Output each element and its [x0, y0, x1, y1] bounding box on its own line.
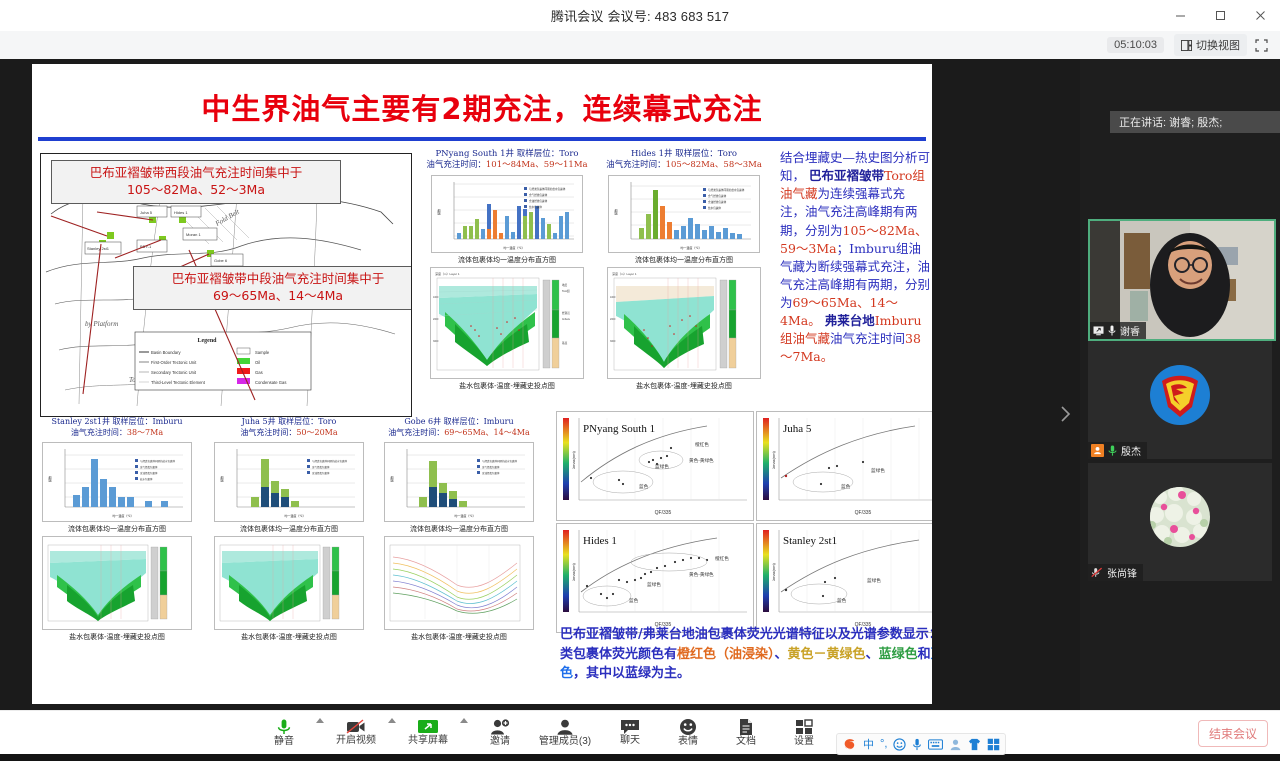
svg-text:Sample: Sample: [255, 350, 270, 355]
participant-tile-xierui[interactable]: 谢睿: [1088, 219, 1276, 341]
svg-text:Gas: Gas: [255, 370, 263, 375]
invite-button[interactable]: 邀请: [471, 711, 529, 754]
svg-text:by Platform: by Platform: [85, 320, 118, 328]
well-card-hides-1: Hides 1井 取样层位：Toro 油气充注时间：105～82Ma、58～3M…: [597, 149, 771, 391]
svg-text:λmax(nm): λmax(nm): [571, 562, 576, 580]
emoji-label: 表情: [678, 737, 698, 747]
histogram-caption-gobe: 流体包裹体均一温度分布直方图: [380, 524, 538, 534]
burial-caption-hides: 盐水包裹体-温度-埋藏史投点图: [597, 381, 771, 391]
svg-text:地层: 地层: [562, 283, 568, 287]
settings-label: 设置: [794, 737, 814, 747]
share-options-caret[interactable]: [457, 705, 471, 761]
participant-name-yinjie: 殷杰: [1121, 443, 1141, 458]
svg-text:烃源岩: 烃源岩: [562, 311, 570, 315]
histogram-stanley: 与烃类包裹体同期的盐水包裹体 含气烃类包裹体 含油烃类包裹体 盐水包裹体 均一温…: [42, 442, 192, 522]
shared-screen-stage[interactable]: 中生界油气主要有2期充注，连续幕式充注: [0, 59, 1080, 710]
svg-text:均一温度（℃）: 均一温度（℃）: [284, 513, 305, 518]
scatter-title-stanley: Stanley 2st1: [783, 535, 837, 547]
document-label: 文档: [736, 737, 756, 747]
host-icon: [1091, 444, 1104, 457]
start-video-button[interactable]: 开启视频: [327, 711, 385, 754]
svg-text:Gobe 6: Gobe 6: [214, 258, 228, 263]
histogram-caption-pnyang: 流体包裹体均一温度分布直方图: [420, 255, 594, 265]
camera-off-icon: [346, 719, 366, 735]
svg-text:与烃类包裹体同期的盐水包裹体: 与烃类包裹体同期的盐水包裹体: [708, 188, 745, 192]
svg-text:蓝绿色: 蓝绿色: [867, 577, 881, 584]
svg-text:λmax(nm): λmax(nm): [571, 450, 576, 468]
scatter-title-hides: Hides 1: [583, 535, 617, 547]
svg-text:3000: 3000: [610, 340, 616, 343]
svg-text:频数: 频数: [219, 476, 224, 482]
svg-text:2000: 2000: [610, 318, 616, 321]
svg-text:Stanley 2st1: Stanley 2st1: [87, 246, 110, 251]
svg-text:Hides 1: Hides 1: [174, 210, 188, 215]
svg-text:深度（m）Layer 1: 深度（m）Layer 1: [612, 271, 637, 276]
svg-text:黄色-黄绿色: 黄色-黄绿色: [689, 457, 714, 464]
apps-icon[interactable]: [987, 738, 1000, 751]
video-options-caret[interactable]: [385, 705, 399, 761]
svg-text:与烃类包裹体同期的盐水包裹体: 与烃类包裹体同期的盐水包裹体: [140, 459, 176, 463]
svg-text:与烃类包裹体同期的盐水包裹体: 与烃类包裹体同期的盐水包裹体: [482, 459, 518, 463]
svg-text:频数: 频数: [613, 209, 618, 215]
chevron-right-icon: [1060, 405, 1071, 423]
svg-text:Condensate Gas: Condensate Gas: [255, 380, 286, 385]
window-controls: [1160, 0, 1280, 31]
callout-west-line1: 巴布亚褶皱带西段油气充注时间集中于: [60, 165, 332, 182]
histogram-caption-juha: 流体包裹体均一温度分布直方图: [210, 524, 368, 534]
burial-plot-gobe: [384, 536, 534, 630]
speaking-indicator: 正在讲话: 谢睿; 殷杰;: [1110, 111, 1280, 133]
svg-text:1000: 1000: [610, 296, 616, 299]
scatter-pnyang-south-1: PNyang South 1 蓝色蓝绿色 黄: [556, 411, 754, 521]
sogou-ime-bar[interactable]: 中 °,: [836, 733, 1006, 755]
analysis-text-block: 结合埋藏史—热史图分析可知， 巴布亚褶皱带Toro组油气藏为连续强幕式充注，油气…: [780, 149, 930, 367]
svg-text:蓝色: 蓝色: [837, 597, 847, 604]
svg-text:Imburu: Imburu: [562, 317, 571, 321]
conclusion-sep3: 和: [918, 647, 931, 662]
callout-mid-line1: 巴布亚褶皱带中段油气充注时间集中于: [142, 271, 412, 288]
participant-rail: 正在讲话: 谢睿; 殷杰;: [1080, 59, 1280, 710]
mute-options-caret[interactable]: [313, 705, 327, 761]
svg-text:橙红色: 橙红色: [715, 555, 729, 562]
share-screen-icon: [417, 719, 439, 735]
participant-name-bar-xierui: 谢睿: [1090, 322, 1146, 339]
conclusion-part2: ，其中以蓝绿为主。: [573, 666, 690, 681]
well-time-gobe: 油气充注时间：69～65Ma、14～4Ma: [380, 428, 538, 439]
histogram-caption-stanley: 流体包裹体均一温度分布直方图: [38, 524, 196, 534]
well-name-pnyang: PNyang South 1井 取样层位：Toro: [420, 149, 594, 160]
manage-members-icon: [555, 719, 575, 736]
conclusion-orange: 橙红色（油浸染）: [677, 647, 775, 662]
svg-text:蓝色: 蓝色: [841, 483, 851, 490]
svg-text:均一温度（℃）: 均一温度（℃）: [112, 513, 133, 518]
svg-text:Legend: Legend: [197, 338, 217, 344]
mic-muted-icon: [1091, 567, 1103, 578]
burial-plot-hides: 深度（m）Layer 1: [607, 267, 761, 379]
callout-west-segment: 巴布亚褶皱带西段油气充注时间集中于 105～82Ma、52～3Ma: [51, 160, 341, 204]
scatter-title-juha: Juha 5: [783, 423, 812, 435]
svg-text:Secondary Tectonic Unit: Secondary Tectonic Unit: [151, 370, 197, 375]
svg-text:蓝绿色: 蓝绿色: [871, 467, 885, 474]
svg-text:蓝色: 蓝色: [639, 483, 649, 490]
share-screen-label: 共享屏幕: [408, 736, 448, 746]
slide-body: Stanley 2st1 Juha 5 Hides 1 BBY-1 Moran …: [32, 145, 932, 704]
meeting-tools: 静音 开启视频 共享屏幕: [255, 711, 833, 754]
participant-name-xierui: 谢睿: [1120, 323, 1140, 338]
fluorescence-spectra-grid: PNyang South 1 蓝色蓝绿色 黄: [556, 411, 932, 633]
mute-button[interactable]: 静音: [255, 711, 313, 754]
map-legend: Legend Basin Boundary First-Order Tecton…: [135, 332, 311, 390]
chat-icon: [620, 719, 640, 735]
document-icon: [738, 718, 754, 736]
svg-text:橙红色: 橙红色: [695, 441, 709, 448]
well-name-juha: Juha 5井 取样层位：Toro: [210, 417, 368, 428]
scatter-hides-1: Hides 1: [556, 523, 754, 633]
settings-button[interactable]: 设置: [775, 711, 833, 754]
sogou-logo-icon[interactable]: [842, 737, 857, 752]
svg-text:均一温度（℃）: 均一温度（℃）: [680, 245, 701, 250]
participant-name-bar-yinjie: 殷杰: [1088, 442, 1147, 459]
chat-button[interactable]: 聊天: [601, 711, 659, 754]
svg-text:均一温度（℃）: 均一温度（℃）: [503, 245, 524, 250]
chat-label: 聊天: [620, 736, 640, 746]
well-time-hides: 油气充注时间：105～82Ma、58～3Ma: [597, 160, 771, 171]
keyboard-icon[interactable]: [928, 739, 943, 750]
analysis-bold-2: 弗莱台地: [825, 313, 875, 328]
slide-title: 中生界油气主要有2期充注，连续幕式充注: [32, 86, 932, 128]
papua-basin-map: Stanley 2st1 Juha 5 Hides 1 BBY-1 Moran …: [40, 153, 412, 417]
svg-text:First-Order Tectonic Unit: First-Order Tectonic Unit: [151, 360, 197, 365]
conclusion-bluegreen: 蓝绿色: [879, 647, 918, 662]
burial-plot-stanley: [42, 536, 192, 630]
conclusion-sep2: 、: [866, 647, 879, 662]
svg-text:盐水包裹体: 盐水包裹体: [529, 205, 542, 209]
svg-text:λmax(nm): λmax(nm): [771, 450, 776, 468]
conclusion-yellow: 黄色－黄绿色: [788, 647, 866, 662]
fullscreen-button[interactable]: [1255, 39, 1268, 52]
burial-plot-pnyang: 深度（m）Layer 1: [430, 267, 584, 379]
burial-caption-stanley: 盐水包裹体-温度-埋藏史投点图: [38, 632, 196, 642]
svg-text:含油烃类包裹体: 含油烃类包裹体: [529, 199, 548, 203]
svg-text:Toro组: Toro组: [562, 289, 570, 293]
svg-text:1000: 1000: [433, 296, 439, 299]
participant-tile-yinjie[interactable]: 殷杰: [1088, 341, 1272, 459]
meeting-sub-toolbar: 05:10:03 切换视图: [0, 31, 1280, 60]
mic-icon[interactable]: [912, 738, 922, 751]
minimize-button[interactable]: [1160, 0, 1200, 31]
svg-text:λmax(nm): λmax(nm): [771, 562, 776, 580]
svg-text:QF/335: QF/335: [855, 510, 872, 516]
participant-name-zhangshangfeng: 张尚锋: [1107, 565, 1137, 580]
ime-punct-label[interactable]: °,: [880, 738, 887, 750]
participant-tile-zhangshangfeng[interactable]: 张尚锋: [1088, 463, 1272, 581]
well-card-stanley-2st1: Stanley 2st1井 取样层位：Imburu 油气充注时间：38～7Ma: [38, 417, 196, 642]
histogram-hides: 与烃类包裹体同期的盐水包裹体 含气烃类包裹体 含油烃类包裹体 盐水包裹体 均一温…: [608, 175, 760, 253]
svg-text:Moran 1: Moran 1: [186, 232, 201, 237]
well-card-gobe-6: Gobe 6井 取样层位：Imburu 油气充注时间：69～65Ma、14～4M…: [380, 417, 538, 642]
svg-text:均一温度（℃）: 均一温度（℃）: [454, 513, 475, 518]
emoji-button[interactable]: 表情: [659, 711, 717, 754]
well-name-gobe: Gobe 6井 取样层位：Imburu: [380, 417, 538, 428]
window-title: 腾讯会议 会议号: 483 683 517: [551, 6, 729, 25]
burial-caption-pnyang: 盐水包裹体-温度-埋藏史投点图: [420, 381, 594, 391]
svg-text:蓝绿色: 蓝绿色: [655, 463, 669, 470]
maximize-button[interactable]: [1200, 0, 1240, 31]
svg-text:蓝绿色: 蓝绿色: [647, 581, 661, 588]
meeting-timer: 05:10:03: [1107, 37, 1164, 53]
mute-label: 静音: [274, 737, 294, 747]
svg-text:蓝色: 蓝色: [629, 597, 639, 604]
svg-text:盐水包裹体: 盐水包裹体: [708, 206, 721, 210]
fullscreen-icon: [1255, 39, 1268, 52]
svg-text:Juha 5: Juha 5: [140, 210, 153, 215]
burial-plot-juha: [214, 536, 364, 630]
svg-text:QF/335: QF/335: [655, 510, 672, 516]
settings-grid-icon: [795, 719, 813, 736]
svg-text:Third-Level Tectonic Element: Third-Level Tectonic Element: [151, 380, 206, 385]
svg-text:2000: 2000: [433, 318, 439, 321]
svg-text:盐水包裹体: 盐水包裹体: [140, 477, 153, 481]
histogram-juha: 与烃类包裹体同期的盐水包裹体 含气烃类包裹体 含油烃类包裹体 均一温度（℃） 频…: [214, 442, 364, 522]
slide-title-rule: [38, 137, 926, 141]
svg-text:频数: 频数: [47, 476, 52, 482]
ime-mode-label[interactable]: 中: [863, 736, 874, 752]
svg-text:含油烃类包裹体: 含油烃类包裹体: [482, 471, 500, 475]
next-slide-arrow[interactable]: [1056, 394, 1074, 434]
svg-text:含气烃类包裹体: 含气烃类包裹体: [708, 194, 727, 198]
invite-user-icon: [490, 719, 510, 736]
emoji-icon: [679, 718, 697, 736]
scatter-stanley-2st1: Stanley 2st1 蓝色蓝绿色 QF/335 λ: [756, 523, 932, 633]
burial-caption-juha: 盐水包裹体-温度-埋藏史投点图: [210, 632, 368, 642]
well-name-hides: Hides 1井 取样层位：Toro: [597, 149, 771, 160]
svg-text:频数: 频数: [389, 476, 394, 482]
mic-icon: [1108, 325, 1116, 336]
svg-text:含气烃类包裹体: 含气烃类包裹体: [482, 465, 500, 469]
callout-west-line2: 105～82Ma、52～3Ma: [60, 182, 332, 199]
callout-mid-segment: 巴布亚褶皱带中段油气充注时间集中于 69～65Ma、14～4Ma: [133, 266, 412, 310]
well-card-pnyang-south-1: PNyang South 1井 取样层位：Toro 油气充注时间：101～84M…: [420, 149, 594, 391]
meeting-bottom-bar: 静音 开启视频 共享屏幕: [0, 710, 1280, 754]
svg-text:含油烃类包裹体: 含油烃类包裹体: [708, 200, 727, 204]
manage-members-label: 管理成员(3): [539, 737, 591, 747]
svg-text:与烃类包裹体同期的盐水包裹体: 与烃类包裹体同期的盐水包裹体: [312, 459, 348, 463]
svg-text:深度（m）Layer 1: 深度（m）Layer 1: [435, 271, 460, 276]
callout-mid-line2: 69～65Ma、14～4Ma: [142, 288, 412, 305]
end-meeting-button[interactable]: 结束会议: [1198, 720, 1268, 747]
presentation-slide: 中生界油气主要有2期充注，连续幕式充注: [32, 64, 932, 704]
scatter-juha-5: Juha 5 蓝色蓝绿色 QF/335 λmax(nm: [756, 411, 932, 521]
conclusion-sep1: 、: [775, 647, 788, 662]
svg-text:含油烃类包裹体: 含油烃类包裹体: [312, 471, 330, 475]
well-name-stanley: Stanley 2st1井 取样层位：Imburu: [38, 417, 196, 428]
switch-view-label: 切换视图: [1196, 37, 1240, 53]
burial-caption-gobe: 盐水包裹体-温度-埋藏史投点图: [380, 632, 538, 642]
invite-label: 邀请: [490, 737, 510, 747]
user-icon[interactable]: [949, 738, 962, 751]
well-card-juha-5: Juha 5井 取样层位：Toro 油气充注时间：50～20Ma: [210, 417, 368, 642]
histogram-pnyang: 与烃类包裹体同期的盐水包裹体 含气烃类包裹体 含油烃类包裹体 盐水包裹体 均一温…: [431, 175, 583, 253]
histogram-caption-hides: 流体包裹体均一温度分布直方图: [597, 255, 771, 265]
svg-text:基底: 基底: [562, 341, 568, 345]
window-title-bar: 腾讯会议 会议号: 483 683 517: [0, 0, 1280, 32]
participant-name-bar-zhangshangfeng: 张尚锋: [1088, 564, 1143, 581]
start-video-label: 开启视频: [336, 736, 376, 746]
scatter-title-pnyang: PNyang South 1: [583, 423, 655, 435]
close-button[interactable]: [1240, 0, 1280, 31]
skin-icon[interactable]: [968, 738, 981, 751]
screen-share-icon: [1093, 326, 1104, 336]
conclusion-text: 巴布亚褶皱带/弗莱台地油包裹体荧光光谱特征以及光谱参数显示：烃类包裹体荧光颜色有…: [560, 625, 932, 684]
tencent-meeting-window: 腾讯会议 会议号: 483 683 517 05:10:03 切换视图: [0, 0, 1280, 753]
svg-text:含气烃类包裹体: 含气烃类包裹体: [312, 465, 330, 469]
svg-text:含气烃类包裹体: 含气烃类包裹体: [529, 193, 548, 197]
document-button[interactable]: 文档: [717, 711, 775, 754]
svg-text:与烃类包裹体同期的盐水包裹体: 与烃类包裹体同期的盐水包裹体: [529, 187, 566, 191]
svg-text:黄色-黄绿色: 黄色-黄绿色: [689, 571, 714, 578]
svg-text:Oil: Oil: [255, 360, 260, 365]
well-time-juha: 油气充注时间：50～20Ma: [210, 428, 368, 439]
switch-view-button[interactable]: 切换视图: [1174, 34, 1247, 56]
mic-icon: [1108, 445, 1117, 456]
svg-text:Basin Boundary: Basin Boundary: [151, 350, 181, 355]
analysis-bold-1: 巴布亚褶皱带: [809, 168, 884, 183]
svg-text:含气烃类包裹体: 含气烃类包裹体: [140, 465, 158, 469]
share-screen-button[interactable]: 共享屏幕: [399, 711, 457, 754]
analysis-line-6: 油气充注时间: [830, 331, 905, 346]
histogram-gobe: 与烃类包裹体同期的盐水包裹体 含气烃类包裹体 含油烃类包裹体 均一温度（℃） 频…: [384, 442, 534, 522]
emoji-icon[interactable]: [893, 738, 906, 751]
layout-icon: [1181, 40, 1192, 51]
svg-text:3000: 3000: [433, 340, 439, 343]
well-time-pnyang: 油气充注时间：101～84Ma、59～11Ma: [420, 160, 594, 171]
svg-text:含油烃类包裹体: 含油烃类包裹体: [140, 471, 158, 475]
svg-text:频数: 频数: [436, 209, 441, 215]
manage-members-button[interactable]: 管理成员(3): [529, 711, 601, 754]
mic-icon: [275, 718, 293, 736]
well-time-stanley: 油气充注时间：38～7Ma: [38, 428, 196, 439]
